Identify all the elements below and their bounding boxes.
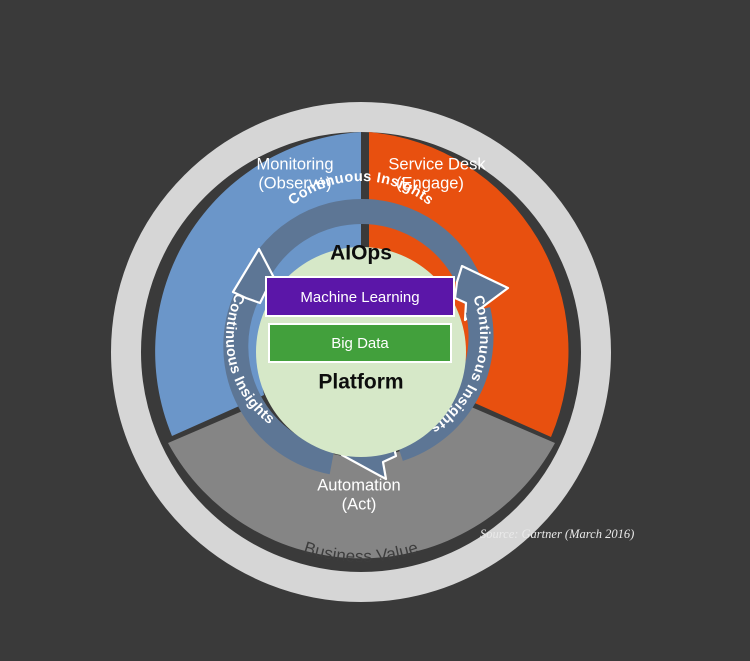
- core-footing: Platform: [318, 371, 403, 394]
- big-data-box[interactable]: Big Data: [269, 324, 451, 362]
- source-note: Source: Gartner (March 2016): [480, 527, 634, 541]
- core-heading: AIOps: [330, 242, 392, 265]
- big-data-label: Big Data: [331, 335, 389, 352]
- machine-learning-label: Machine Learning: [300, 289, 419, 306]
- diagram-canvas: Monitoring (Observe) Service Desk (Engag…: [0, 0, 750, 661]
- automation-label-line2: (Act): [342, 495, 377, 513]
- machine-learning-box[interactable]: Machine Learning: [266, 277, 454, 316]
- automation-label-line1: Automation: [317, 476, 400, 494]
- aiops-wheel-diagram: Monitoring (Observe) Service Desk (Engag…: [0, 0, 750, 661]
- monitoring-label-line1: Monitoring: [256, 155, 333, 173]
- service-desk-label-line1: Service Desk: [388, 155, 486, 173]
